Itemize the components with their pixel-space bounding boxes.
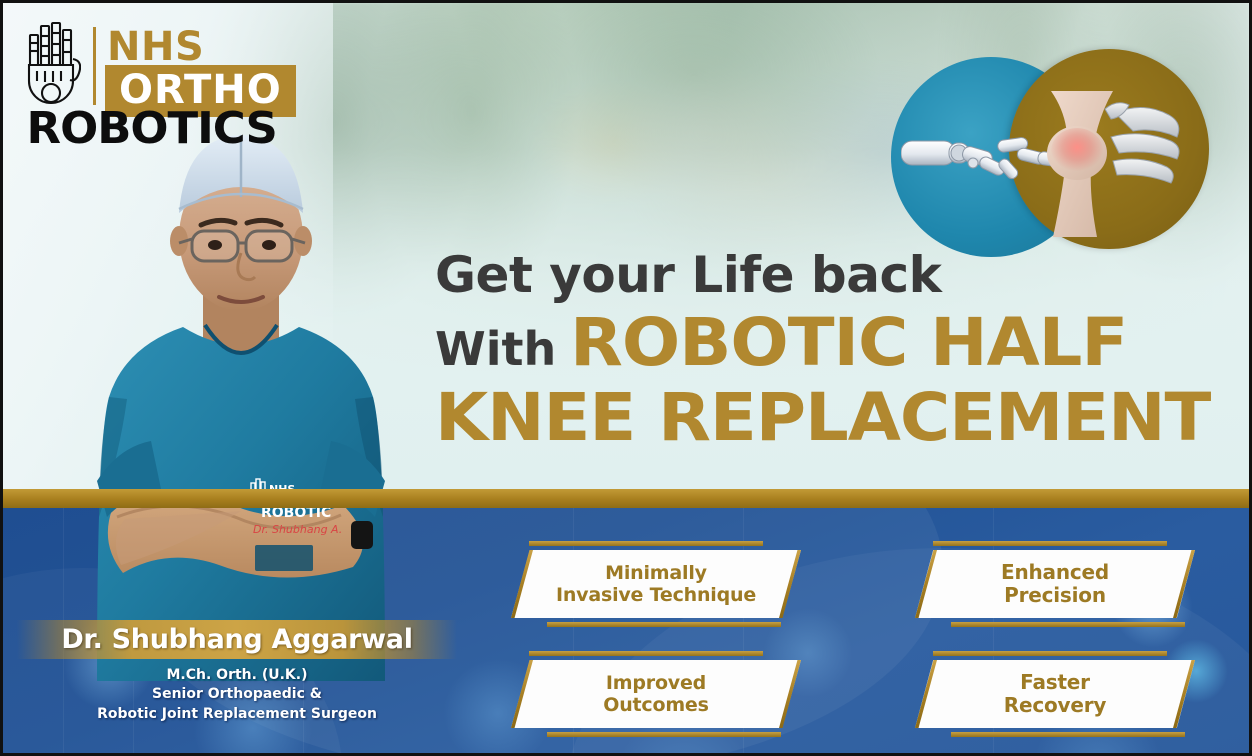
badge-label-line-1: Enhanced <box>1001 561 1109 584</box>
headline-emphasis-1: ROBOTIC HALF <box>570 310 1127 376</box>
badge-label-line-2: Recovery <box>1004 694 1106 717</box>
headline-with-word: With <box>435 322 556 376</box>
knee-joint-examination-image <box>1019 89 1199 239</box>
feature-badge-improved-outcomes[interactable]: Improved Outcomes <box>511 660 801 728</box>
headline-emphasis-2: KNEE REPLACEMENT <box>435 382 1252 453</box>
brand-logo[interactable]: NHS ORTHO ROBOTICS <box>19 15 249 139</box>
badge-label: Enhanced Precision <box>915 550 1195 618</box>
badge-accent-bottom <box>951 732 1185 737</box>
logo-nhs-text: NHS <box>107 27 204 67</box>
image-collage <box>891 49 1201 269</box>
badge-accent-top <box>933 651 1167 656</box>
headline-line-2: With ROBOTIC HALF <box>435 310 1245 376</box>
headline-block: Get your Life back With ROBOTIC HALF KNE… <box>435 249 1245 453</box>
robotic-hand-icon <box>23 19 81 111</box>
logo-robotics-text: ROBOTICS <box>27 107 277 151</box>
gold-divider-band <box>3 489 1249 508</box>
headline-line-1: Get your Life back <box>435 249 1245 302</box>
feature-badge-enhanced-precision[interactable]: Enhanced Precision <box>915 550 1195 618</box>
badge-accent-bottom <box>951 622 1185 627</box>
promo-banner: NHS ORTHO ROBOTICS <box>0 0 1252 756</box>
badge-accent-top <box>933 541 1167 546</box>
badge-label-line-2: Precision <box>1004 584 1106 607</box>
badge-label-line-2: Outcomes <box>603 694 708 716</box>
badge-label-line-1: Minimally <box>605 562 707 584</box>
badge-label-line-2: Invasive Technique <box>556 584 756 606</box>
feature-badge-faster-recovery[interactable]: Faster Recovery <box>915 660 1195 728</box>
badge-label: Improved Outcomes <box>511 660 801 728</box>
badge-label-line-1: Improved <box>606 672 706 694</box>
badge-label: Minimally Invasive Technique <box>511 550 801 618</box>
badge-accent-top <box>529 541 763 546</box>
badge-accent-bottom <box>547 732 781 737</box>
feature-badge-minimally-invasive[interactable]: Minimally Invasive Technique <box>511 550 801 618</box>
logo-divider <box>93 27 96 105</box>
feature-badge-group: Minimally Invasive Technique Enhanced Pr… <box>3 508 1249 756</box>
badge-label-line-1: Faster <box>1020 671 1090 694</box>
badge-label: Faster Recovery <box>915 660 1195 728</box>
badge-accent-bottom <box>547 622 781 627</box>
badge-accent-top <box>529 651 763 656</box>
